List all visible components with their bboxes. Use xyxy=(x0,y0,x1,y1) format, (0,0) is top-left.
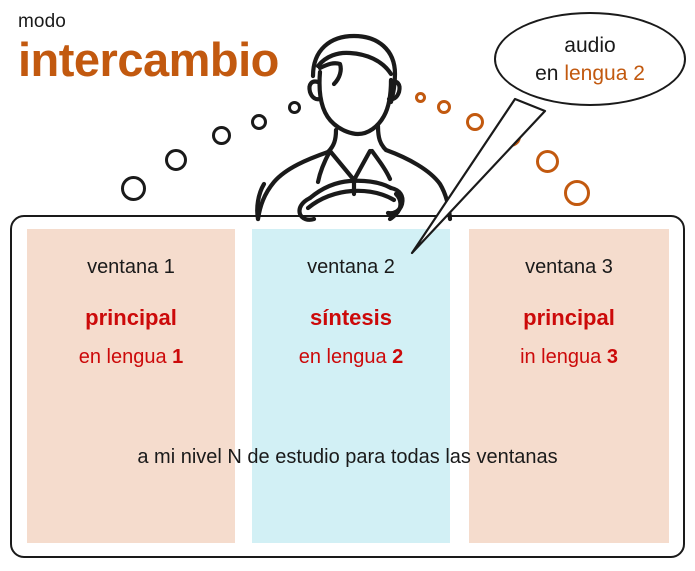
window-column-3-lang-prefix: in lengua xyxy=(520,346,607,368)
window-column-3-lang: in lengua 3 xyxy=(469,345,669,369)
window-column-1-lang-prefix: en lengua xyxy=(79,346,172,368)
window-column-2[interactable]: ventana 2 síntesis en lengua 2 xyxy=(252,229,450,543)
header: modo intercambio xyxy=(18,12,279,84)
windows-columns: ventana 1 principal en lengua 1 ventana … xyxy=(10,215,685,558)
window-column-3[interactable]: ventana 3 principal in lengua 3 xyxy=(469,229,669,543)
decor-circle-2-icon xyxy=(165,149,187,171)
speech-balloon-tail-icon xyxy=(395,95,575,260)
window-column-2-lang-prefix: en lengua xyxy=(299,346,392,368)
window-column-1-lang-number: 1 xyxy=(172,346,183,368)
window-column-1-name: ventana 1 xyxy=(27,255,235,279)
window-column-3-role: principal xyxy=(469,305,669,331)
balloon-line-2: en lengua 2 xyxy=(494,60,686,88)
window-column-1-role: principal xyxy=(27,305,235,331)
decor-circle-1-icon xyxy=(121,176,146,201)
balloon-line-1: audio xyxy=(494,32,686,60)
kicker-label: modo xyxy=(18,12,279,33)
window-column-2-lang: en lengua 2 xyxy=(252,345,450,369)
window-column-3-lang-number: 3 xyxy=(607,346,618,368)
window-column-1-content: ventana 1 principal en lengua 1 xyxy=(27,255,235,369)
balloon-line-2-prefix: en xyxy=(535,62,564,85)
decor-circle-3-icon xyxy=(212,126,231,145)
panel-footer-caption: a mi nivel N de estudio para todas las v… xyxy=(10,446,685,469)
window-column-1[interactable]: ventana 1 principal en lengua 1 xyxy=(27,229,235,543)
window-column-3-content: ventana 3 principal in lengua 3 xyxy=(469,255,669,369)
page-title: intercambio xyxy=(18,35,279,84)
speech-balloon-icon: audio en lengua 2 xyxy=(494,12,686,106)
balloon-text: audio en lengua 2 xyxy=(494,32,686,89)
diagram-canvas: modo intercambio xyxy=(0,0,695,571)
balloon-line-2-accent: lengua 2 xyxy=(564,62,645,85)
window-column-2-lang-number: 2 xyxy=(392,346,403,368)
window-column-2-role: síntesis xyxy=(252,305,450,331)
window-column-2-content: ventana 2 síntesis en lengua 2 xyxy=(252,255,450,369)
window-column-1-lang: en lengua 1 xyxy=(27,345,235,369)
